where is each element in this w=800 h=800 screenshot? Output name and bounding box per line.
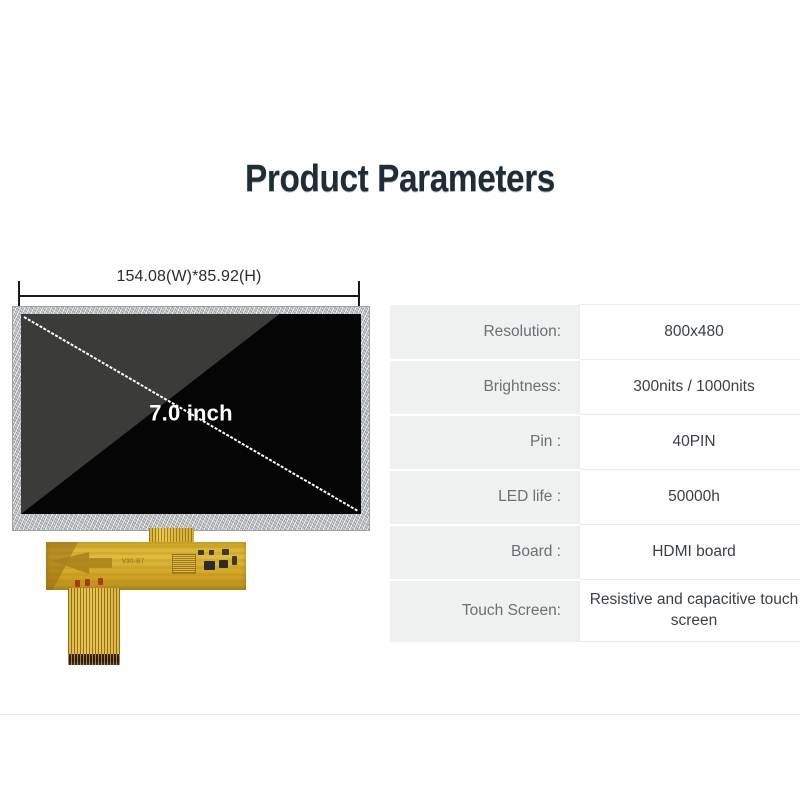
dimension-callout: 154.08(W)*85.92(H) — [16, 268, 362, 304]
spec-value: 50000h — [580, 470, 800, 525]
page-title: Product Parameters — [48, 158, 752, 201]
flex-cable-solder-pad — [172, 554, 196, 574]
flex-cable-silkscreen-text: V30-B7 — [122, 559, 144, 565]
flex-cable-led-1 — [75, 580, 80, 587]
spec-value: 300nits / 1000nits — [580, 360, 800, 415]
dimension-line — [18, 295, 360, 297]
dimension-label: 154.08(W)*85.92(H) — [16, 268, 362, 286]
flex-cable-connector-pins — [68, 654, 120, 665]
flex-cable-tail-traces — [68, 588, 120, 660]
table-row: Touch Screen: Resistive and capacitive t… — [390, 580, 800, 642]
flex-cable-led-3 — [98, 578, 103, 585]
lcd-panel-bezel: 7.0 inch — [12, 306, 370, 531]
spec-label: Pin : — [390, 415, 580, 470]
spec-label: Touch Screen: — [390, 580, 580, 642]
table-row: Brightness: 300nits / 1000nits — [390, 360, 800, 415]
spec-value: 800x480 — [580, 305, 800, 360]
table-row: LED life : 50000h — [390, 470, 800, 525]
spec-label: Board : — [390, 525, 580, 580]
product-parameters-page: Product Parameters 154.08(W)*85.92(H) 7.… — [0, 0, 800, 800]
spec-label: LED life : — [390, 470, 580, 525]
flex-cable-led-2 — [85, 579, 90, 586]
flex-cable-chip-6 — [232, 556, 237, 565]
flex-cable-chip-1 — [204, 561, 215, 570]
flex-cable-chip-4 — [209, 550, 214, 555]
footer-divider — [0, 714, 800, 715]
table-row: Resolution: 800x480 — [390, 305, 800, 360]
spec-value: 40PIN — [580, 415, 800, 470]
spec-value: Resistive and capacitive touch screen — [580, 580, 800, 642]
spec-table: Resolution: 800x480 Brightness: 300nits … — [390, 304, 800, 642]
lcd-screen: 7.0 inch — [21, 314, 361, 514]
flex-cable-chip-2 — [219, 560, 228, 568]
spec-label: Resolution: — [390, 305, 580, 360]
table-row: Pin : 40PIN — [390, 415, 800, 470]
flex-cable-chip-3 — [198, 550, 204, 555]
screen-size-label: 7.0 inch — [21, 400, 361, 426]
spec-label: Brightness: — [390, 360, 580, 415]
spec-value: HDMI board — [580, 525, 800, 580]
table-row: Board : HDMI board — [390, 525, 800, 580]
flex-cable-chip-5 — [222, 549, 229, 555]
flex-cable: V30-B7 — [46, 528, 246, 668]
